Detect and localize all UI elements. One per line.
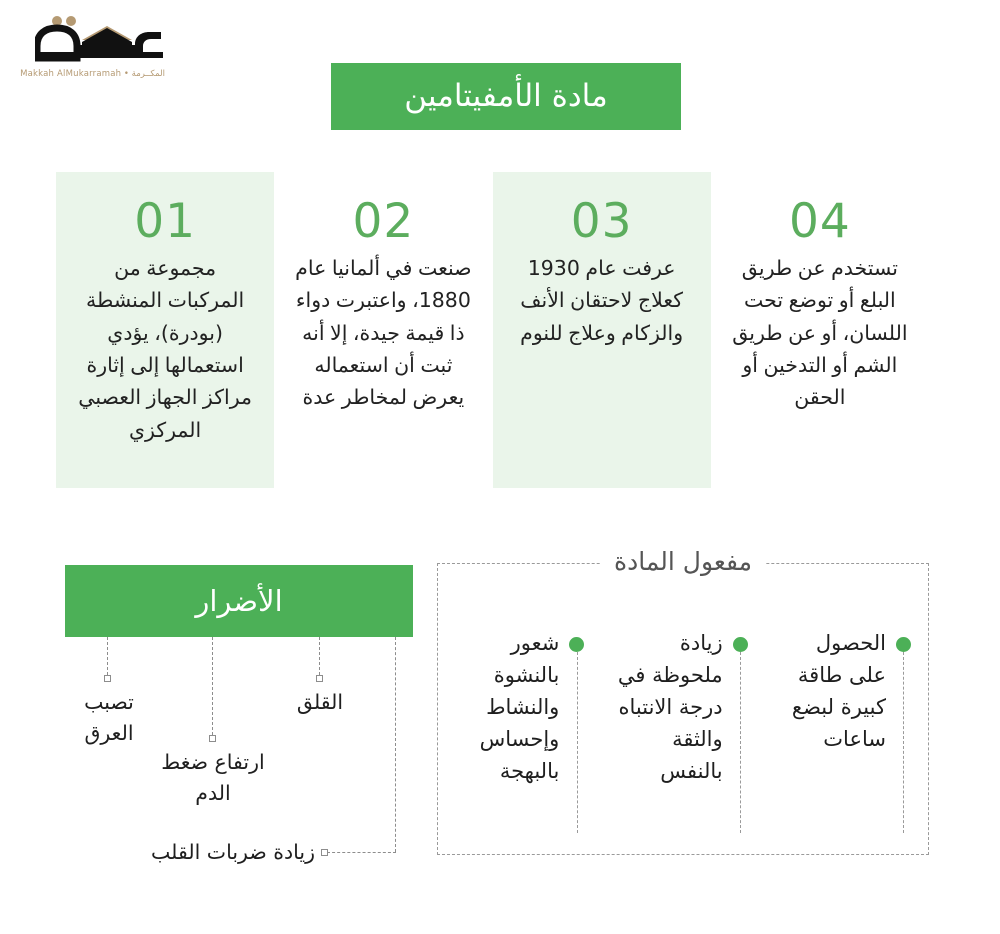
makkah-wordmark-icon	[35, 12, 165, 68]
harm-label: القلق	[275, 687, 365, 718]
page-title-text: مادة الأمفيتامين	[404, 81, 607, 112]
harm-label: تصبب العرق	[65, 687, 153, 749]
harm-connector-node	[104, 675, 111, 682]
harm-connector-node	[209, 735, 216, 742]
harm-connector-node	[321, 849, 328, 856]
logo-caption: المكــرمة • Makkah AlMukarramah	[33, 69, 165, 79]
harm-label: ارتفاع ضغط الدم	[133, 747, 293, 809]
effect-item: زيادة ملحوظة في درجة الانتباه والثقة بال…	[601, 564, 764, 854]
fact-card-04: 04 تستخدم عن طريق البلع أو توضع تحت اللس…	[711, 172, 929, 488]
effect-connector-line	[740, 652, 741, 833]
harms-panel-title: الأضرار	[65, 565, 413, 637]
infographic-page: المكــرمة • Makkah AlMukarramah مادة الأ…	[0, 0, 1000, 934]
harm-connector-line	[395, 637, 396, 852]
makkah-logo: المكــرمة • Makkah AlMukarramah	[20, 12, 165, 90]
fact-card-01: 01 مجموعة من المركبات المنشطة (بودرة)، ي…	[56, 172, 274, 488]
fact-card-02: 02 صنعت في ألمانيا عام 1880، واعتبرت دوا…	[274, 172, 492, 488]
effect-item: شعور بالنشوة والنشاط وإحساس بالبهجة	[438, 564, 601, 854]
fact-card-text: صنعت في ألمانيا عام 1880، واعتبرت دواء ذ…	[292, 252, 474, 414]
fact-card-number: 03	[511, 198, 693, 246]
page-title: مادة الأمفيتامين	[331, 63, 681, 130]
fact-card-number: 04	[729, 198, 911, 246]
harm-connector-line	[212, 637, 213, 735]
effect-connector-line	[903, 652, 904, 833]
harm-label: زيادة ضربات القلب	[135, 837, 315, 868]
harm-connector-node	[316, 675, 323, 682]
effect-connector-line	[577, 652, 578, 833]
bullet-dot-icon	[733, 637, 748, 652]
fact-card-text: عرفت عام 1930 كعلاج لاحتقان الأنف والزكا…	[511, 252, 693, 349]
harm-connector-line	[107, 637, 108, 675]
harm-connector-line	[319, 637, 320, 675]
harm-connector-line	[327, 852, 396, 853]
bullet-dot-icon	[896, 637, 911, 652]
fact-card-text: تستخدم عن طريق البلع أو توضع تحت اللسان،…	[729, 252, 911, 414]
facts-card-row: 01 مجموعة من المركبات المنشطة (بودرة)، ي…	[56, 172, 929, 488]
fact-card-number: 01	[74, 198, 256, 246]
fact-card-03: 03 عرفت عام 1930 كعلاج لاحتقان الأنف وال…	[493, 172, 711, 488]
effects-panel: مفعول المادة شعور بالنشوة والنشاط وإحساس…	[437, 563, 929, 855]
harms-panel-title-text: الأضرار	[195, 584, 282, 618]
fact-card-text: مجموعة من المركبات المنشطة (بودرة)، يؤدي…	[74, 252, 256, 446]
effects-item-list: شعور بالنشوة والنشاط وإحساس بالبهجة زياد…	[438, 564, 928, 854]
harms-panel: الأضرار القلق تصبب العرق ارتفاع ضغط الدم…	[65, 565, 415, 860]
effect-item: الحصول على طاقة كبيرة لبضع ساعات	[765, 564, 928, 854]
fact-card-number: 02	[292, 198, 474, 246]
